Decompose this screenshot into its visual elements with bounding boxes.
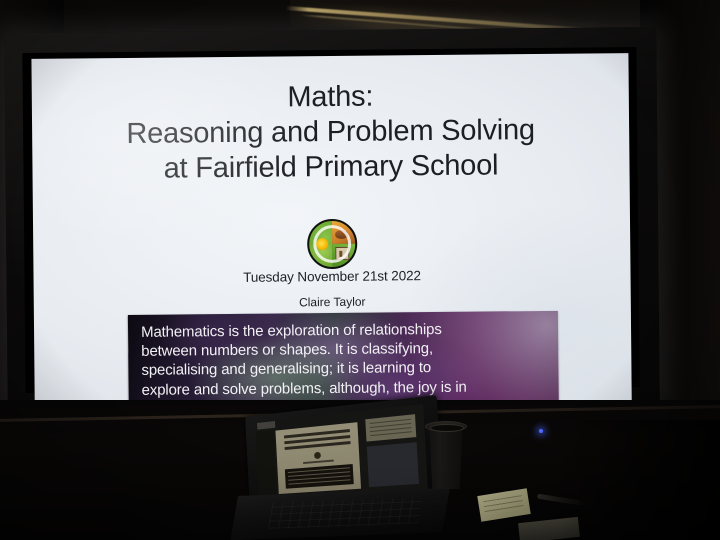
presenter-view-sidebar	[256, 430, 278, 499]
display-screen: Maths: Reasoning and Problem Solving at …	[31, 53, 631, 407]
presenter-view-toolbar	[257, 421, 275, 430]
thumbnail-crest-icon	[314, 452, 321, 459]
laptop-screen	[255, 404, 428, 501]
quote-callout-box: Mathematics is the exploration of relati…	[128, 311, 559, 407]
thumbnail-quote-box	[285, 464, 354, 489]
coffee-cup-lid	[425, 421, 467, 432]
coffee-cup-body	[427, 427, 465, 489]
slide-date: Tuesday November 21st 2022	[33, 266, 630, 287]
coffee-cup-lid-rim	[430, 424, 464, 432]
slide-title: Maths: Reasoning and Problem Solving at …	[32, 77, 630, 187]
presenter-view-current-slide	[275, 422, 361, 494]
laptop	[238, 406, 448, 540]
thumbnail-title-lines	[284, 429, 351, 452]
slide-title-line-3: at Fairfield Primary School	[32, 147, 629, 188]
slide-author: Claire Taylor	[34, 292, 631, 312]
slide-title-line-1: Maths:	[32, 77, 629, 118]
wall-display: Maths: Reasoning and Problem Solving at …	[4, 27, 660, 415]
crest-text-ring	[313, 225, 351, 263]
presentation-slide: Maths: Reasoning and Problem Solving at …	[31, 53, 631, 407]
desk-shadow-right	[560, 420, 720, 540]
presenter-view-next-slide	[365, 414, 416, 441]
coffee-cup	[425, 415, 467, 489]
presenter-view-notes-pane	[367, 442, 419, 487]
slide-title-line-2: Reasoning and Problem Solving	[32, 112, 629, 153]
school-crest-logo	[306, 219, 356, 269]
device-status-led	[539, 429, 543, 433]
laptop-keyboard	[268, 497, 422, 529]
photo-scene: Maths: Reasoning and Problem Solving at …	[0, 0, 720, 540]
laptop-base	[230, 488, 450, 540]
thumbnail-subtitle-line	[303, 460, 334, 464]
